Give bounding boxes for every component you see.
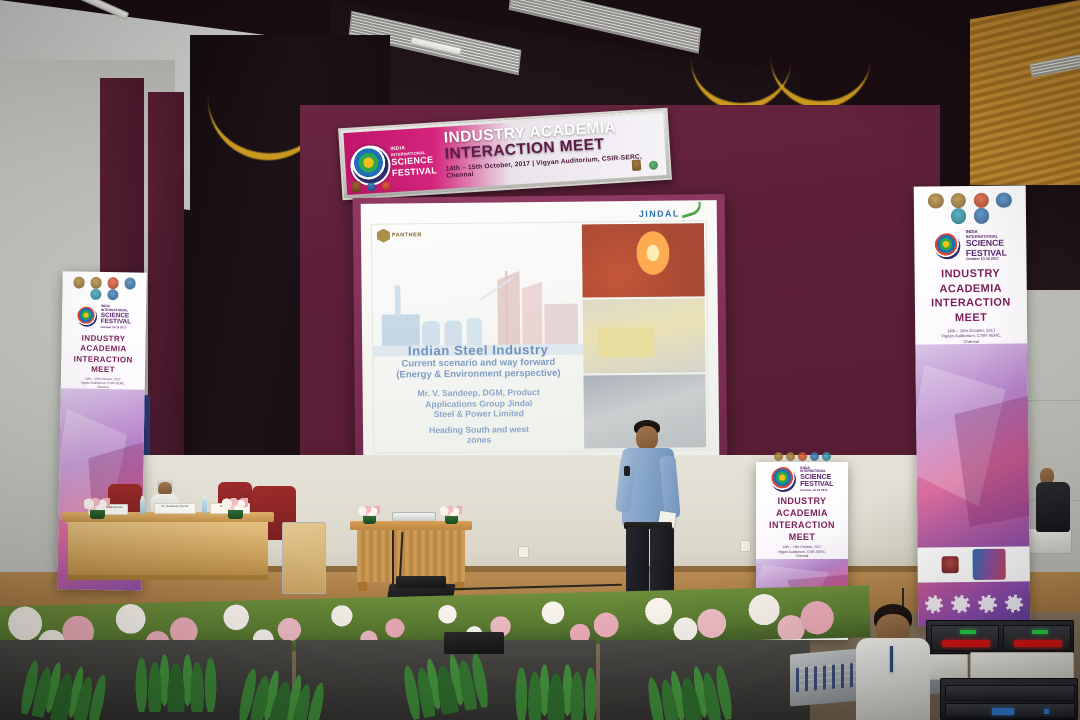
standee-podium-meta: 14th – 15th October, 2017 Vigyan Auditor… xyxy=(756,545,848,558)
sponsor-logo-icon xyxy=(90,288,102,300)
sponsor-logo-icon xyxy=(951,193,967,209)
standee-left-festival-text: INDIA INTERNATIONAL SCIENCE FESTIVAL Oct… xyxy=(101,305,132,330)
technician-lanyard xyxy=(890,646,893,672)
sponsor-logo-gov-icon xyxy=(632,159,642,171)
sponsor-logo-icon xyxy=(124,277,136,289)
standee-right-festival-text: INDIA INTERNATIONAL SCIENCE FESTIVAL Oct… xyxy=(966,230,1007,262)
standee-title-l4: MEET xyxy=(759,532,846,544)
standee-right-meta: 14th – 15th October, 2017 Vigyan Auditor… xyxy=(915,327,1027,345)
slide-photo-column xyxy=(582,221,708,450)
standee-podium-title: INDUSTRY ACADEMIA INTERACTION MEET xyxy=(756,493,848,545)
standee-title-l2: ACADEMIA xyxy=(918,281,1023,297)
slide-footer-block: Heading South and west zones xyxy=(380,423,578,446)
banner-sponsor-logos-right xyxy=(632,158,659,171)
standee-right-footer-logos xyxy=(917,546,1029,582)
flower-pot xyxy=(363,516,376,524)
standee-title-l3: INTERACTION xyxy=(64,354,143,366)
amplifier-unit[interactable] xyxy=(945,685,1075,701)
slide-brand-text: JINDAL xyxy=(639,209,680,219)
processor-unit[interactable] xyxy=(945,703,1075,718)
standee-left-sponsor-logos xyxy=(62,271,147,303)
auditorium-scene: INDIA INTERNATIONAL SCIENCE FESTIVAL IND… xyxy=(0,0,1080,720)
sponsor-logo-icon xyxy=(107,289,119,301)
table-flower-arrangement-2 xyxy=(222,498,248,518)
sponsor-logo-csir-icon xyxy=(367,182,377,192)
projector-cable-1 xyxy=(392,530,394,586)
flower-pot xyxy=(228,510,243,519)
front-stage-speaker xyxy=(444,632,504,654)
standee-podium-festival-logo: INDIA INTERNATIONAL SCIENCE FESTIVAL Oct… xyxy=(756,462,848,493)
sf-dates: October 13-16 2017 xyxy=(800,489,833,492)
sponsor-logo-icon xyxy=(951,208,967,224)
sponsor-logo-icon xyxy=(928,193,944,209)
nameplate: Dr. Santhosh Kumar xyxy=(154,503,196,514)
sponsor-logo-icon xyxy=(996,192,1012,208)
standee-podium-top-logos xyxy=(756,452,848,461)
receiver-2-display xyxy=(1014,640,1062,647)
power-amplifier-rack xyxy=(940,678,1078,720)
standee-title-l3: INTERACTION xyxy=(918,296,1023,312)
slide-left-column: PANTHER xyxy=(372,223,584,453)
wireless-mic-receiver-2[interactable] xyxy=(1003,625,1071,651)
slide-subtitle-2: (Energy & Environment perspective) xyxy=(373,368,583,381)
wall-power-socket-2 xyxy=(740,540,751,552)
sponsor-logo-icon xyxy=(810,452,819,461)
podium-flower-left xyxy=(358,506,380,524)
standee-right-artwork xyxy=(915,343,1029,547)
sponsor-logo-icon xyxy=(90,277,102,289)
sponsor-logo-icon xyxy=(774,452,783,461)
flower-pot xyxy=(90,510,105,519)
sponsor-logo-icon xyxy=(73,277,85,289)
science-festival-logo-icon xyxy=(771,467,796,492)
standee-right: INDIA INTERNATIONAL SCIENCE FESTIVAL Oct… xyxy=(914,185,1031,626)
standee-title-l4: MEET xyxy=(63,365,142,377)
wall-power-socket xyxy=(518,546,529,558)
standee-podium-festival-text: INDIA INTERNATIONAL SCIENCE FESTIVAL Oct… xyxy=(800,467,833,493)
podium-flower-right xyxy=(440,506,462,524)
standee-title-l3: INTERACTION xyxy=(759,520,846,532)
head-table: Dr. N. Gopalakrishnan Dr. Santhosh Kumar… xyxy=(62,512,274,592)
sf-l3: SCIENCE xyxy=(800,474,833,482)
gear-icon xyxy=(1005,594,1023,612)
standing-attendee xyxy=(1036,468,1076,548)
standee-title-l2: ACADEMIA xyxy=(759,508,846,520)
sponsor-logo-orange-icon xyxy=(382,181,392,191)
standee-right-sponsor-logos xyxy=(914,185,1026,227)
standee-title-l4: MEET xyxy=(918,310,1023,326)
table-leg-left xyxy=(358,582,367,591)
csir-logo-icon xyxy=(941,557,959,573)
gear-icon xyxy=(951,595,969,613)
science-festival-logo-icon xyxy=(77,307,97,327)
receiver-1-display xyxy=(942,640,990,647)
banner-festival-l4: FESTIVAL xyxy=(392,165,445,179)
slide-footer-2: zones xyxy=(380,434,578,447)
science-festival-logo-icon xyxy=(934,233,961,260)
processor-led xyxy=(1044,709,1049,714)
slide-body: PANTHER xyxy=(371,220,709,454)
slide-presenter-block: Mr. V. Sandeep, DGM, Product Application… xyxy=(380,387,578,421)
presenter-head xyxy=(636,426,658,450)
sponsor-logo-icon xyxy=(107,277,119,289)
banner-festival-text: INDIA INTERNATIONAL SCIENCE FESTIVAL xyxy=(390,144,444,178)
molten-steel-pour-photo xyxy=(582,223,705,298)
banner-sponsor-logos-left xyxy=(351,179,391,192)
receiver-2-signal-led xyxy=(1032,630,1048,634)
slide-title-block: Indian Steel Industry Current scenario a… xyxy=(373,341,583,381)
sponsor-logo-icon xyxy=(973,193,989,209)
sponsor-logo-icon xyxy=(798,452,807,461)
projector-table-front xyxy=(357,530,465,582)
attendee-torso xyxy=(1036,482,1070,532)
sponsor-logo-green-icon xyxy=(649,160,659,170)
csir-serc-logo-icon xyxy=(972,549,1006,580)
sound-technician xyxy=(850,604,936,720)
yellow-building-photo xyxy=(583,299,706,374)
flower-pot xyxy=(445,516,458,524)
wireless-mic-receiver-1[interactable] xyxy=(931,625,999,651)
wireless-receiver-rack xyxy=(926,620,1074,654)
table-flower-arrangement-1 xyxy=(84,498,110,518)
equipment-case xyxy=(396,576,446,588)
slide-presenter-3: Steel & Power Limited xyxy=(380,408,578,421)
processor-display xyxy=(992,708,1014,715)
slide-brand-logo: JINDAL xyxy=(639,205,703,219)
sponsor-logo-icon xyxy=(786,452,795,461)
head-table-front xyxy=(68,522,268,580)
sponsor-logo-icon xyxy=(822,452,831,461)
standee-left-title: INDUSTRY ACADEMIA INTERACTION MEET xyxy=(61,330,146,379)
presentation-clicker xyxy=(624,466,630,476)
potted-palm-1 xyxy=(128,636,224,712)
standee-right-festival-logo: INDIA INTERNATIONAL SCIENCE FESTIVAL Oct… xyxy=(914,226,1026,263)
receiver-1-signal-led xyxy=(960,630,976,634)
sf-dates: October 13-16 2017 xyxy=(966,258,1007,262)
technician-shirt xyxy=(856,638,930,720)
water-bottle-1 xyxy=(140,499,145,514)
standee-right-title: INDUSTRY ACADEMIA INTERACTION MEET xyxy=(915,262,1028,328)
standee-left-festival-logo: INDIA INTERNATIONAL SCIENCE FESTIVAL Oct… xyxy=(62,302,146,331)
sponsor-logo-emblem-icon xyxy=(351,181,361,193)
standee-title-l1: INDUSTRY xyxy=(918,267,1023,283)
water-bottle-2 xyxy=(202,498,207,513)
panther-logo: PANTHER xyxy=(377,228,422,242)
standee-title-l1: INDUSTRY xyxy=(759,496,846,508)
side-cabinet xyxy=(282,522,326,594)
potted-palm-4 xyxy=(508,646,604,720)
sponsor-logo-icon xyxy=(974,208,990,224)
panther-label: PANTHER xyxy=(392,232,422,238)
jindal-swoosh-icon xyxy=(679,201,703,218)
panther-hex-icon xyxy=(377,229,390,243)
gear-icon xyxy=(978,595,996,613)
